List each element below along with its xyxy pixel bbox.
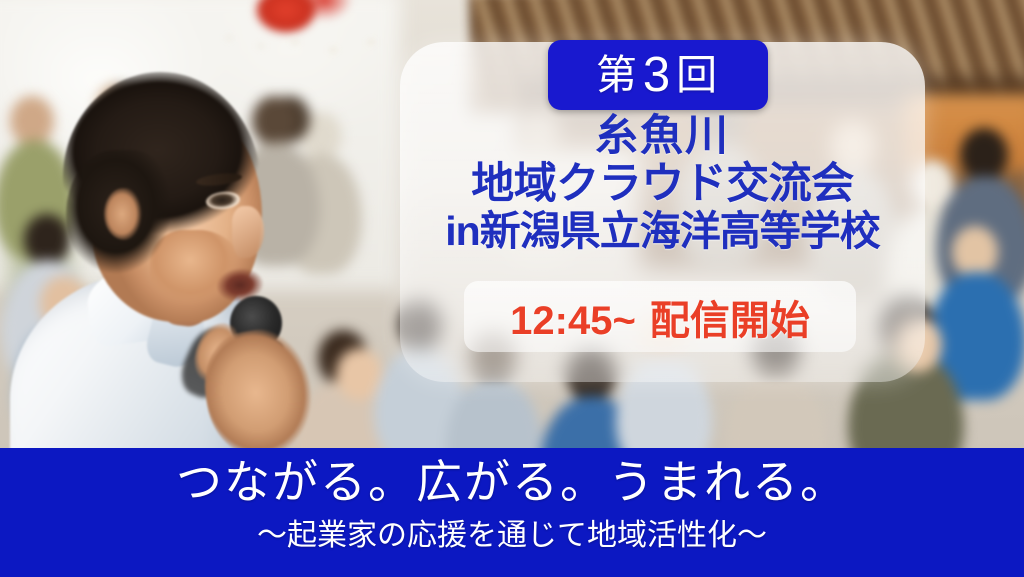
bottom-tagline-banner: つながる。広がる。うまれる。 〜起業家の応援を通じて地域活性化〜 bbox=[0, 448, 1024, 577]
edition-badge: 第3回 bbox=[548, 40, 768, 110]
event-title-line-2: 地域クラウド交流会 bbox=[400, 162, 925, 208]
speaker-nose bbox=[232, 206, 264, 258]
broadcast-time-text: 12:45~配信開始 bbox=[510, 288, 810, 346]
broadcast-time-panel: 12:45~配信開始 bbox=[464, 281, 856, 352]
tagline-sub: 〜起業家の応援を通じて地域活性化〜 bbox=[0, 519, 1024, 552]
broadcast-start-time: 12:45~ bbox=[510, 299, 636, 343]
edition-number: 3 bbox=[640, 48, 676, 102]
speaker-figure bbox=[0, 0, 400, 460]
event-title: 糸魚川 地域クラウド交流会 in新潟県立海洋高等学校 bbox=[400, 114, 925, 254]
edition-suffix: 回 bbox=[676, 52, 720, 98]
edition-badge-label: 第3回 bbox=[596, 51, 720, 100]
tagline-main: つながる。広がる。うまれる。 bbox=[0, 457, 1024, 508]
event-title-line-3: in新潟県立海洋高等学校 bbox=[400, 210, 925, 253]
edition-prefix: 第 bbox=[596, 52, 640, 98]
speaker-ear bbox=[104, 188, 142, 240]
event-title-line-1: 糸魚川 bbox=[400, 114, 925, 160]
slide-canvas: 第3回 糸魚川 地域クラウド交流会 in新潟県立海洋高等学校 12:45~配信開… bbox=[0, 0, 1024, 577]
broadcast-start-label: 配信開始 bbox=[650, 299, 810, 343]
